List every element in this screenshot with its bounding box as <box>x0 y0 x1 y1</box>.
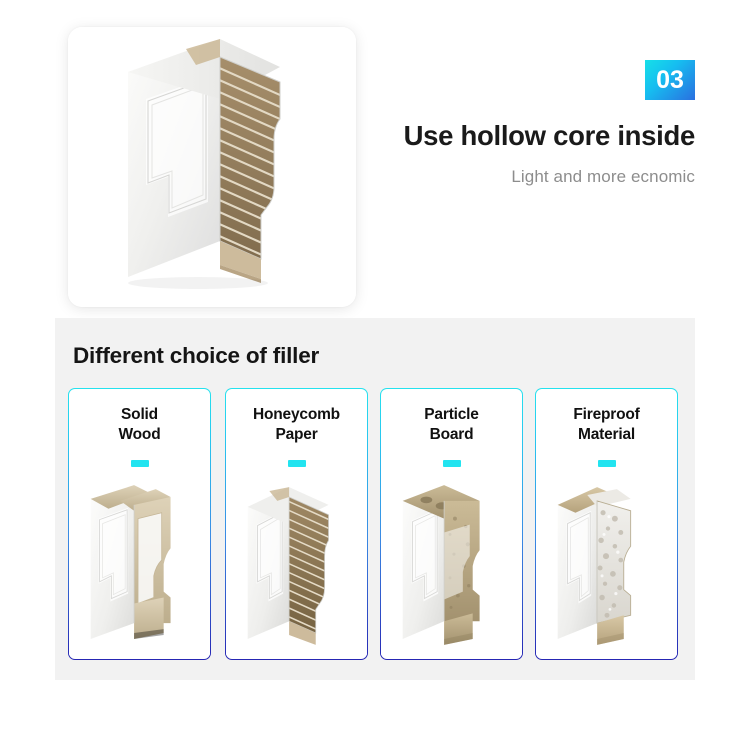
hero-text-block: 03 Use hollow core inside Light and more… <box>275 60 695 187</box>
accent-dash <box>288 460 306 467</box>
filler-section-title: Different choice of filler <box>73 343 319 369</box>
hero-section: 03 Use hollow core inside Light and more… <box>0 0 750 318</box>
filler-card-title: Particle Board <box>381 405 522 445</box>
filler-card-title-line2: Material <box>578 426 635 443</box>
accent-dash <box>598 460 616 467</box>
filler-card-title: Honeycomb Paper <box>226 405 367 445</box>
filler-card-title-line1: Fireproof <box>573 406 639 423</box>
filler-card-title-line1: Particle <box>424 406 478 423</box>
filler-card-title: Solid Wood <box>69 405 210 445</box>
filler-card-title-line1: Honeycomb <box>253 406 340 423</box>
accent-dash <box>131 460 149 467</box>
filler-card-title-line2: Board <box>430 426 474 443</box>
filler-card-title-line2: Wood <box>119 426 161 443</box>
filler-card-title-line1: Solid <box>121 406 158 423</box>
infographic-page: 03 Use hollow core inside Light and more… <box>0 0 750 750</box>
filler-options-panel: Different choice of filler Solid Wood <box>55 318 695 680</box>
filler-card-particle-board[interactable]: Particle Board <box>380 388 523 660</box>
filler-card-list: Solid Wood <box>68 388 682 660</box>
filler-card-title-line2: Paper <box>275 426 317 443</box>
filler-card-honeycomb-paper[interactable]: Honeycomb Paper <box>225 388 368 660</box>
step-number-badge: 03 <box>645 60 695 100</box>
fireproof-material-core-door-image <box>536 475 677 655</box>
hero-title: Use hollow core inside <box>275 120 695 152</box>
particle-board-core-door-image <box>381 475 522 655</box>
filler-card-solid-wood[interactable]: Solid Wood <box>68 388 211 660</box>
honeycomb-paper-core-door-image <box>226 475 367 655</box>
filler-card-title: Fireproof Material <box>536 405 677 445</box>
filler-card-fireproof-material[interactable]: Fireproof Material <box>535 388 678 660</box>
solid-wood-core-door-image <box>69 475 210 655</box>
hero-subtitle: Light and more ecnomic <box>275 167 695 187</box>
accent-dash <box>443 460 461 467</box>
